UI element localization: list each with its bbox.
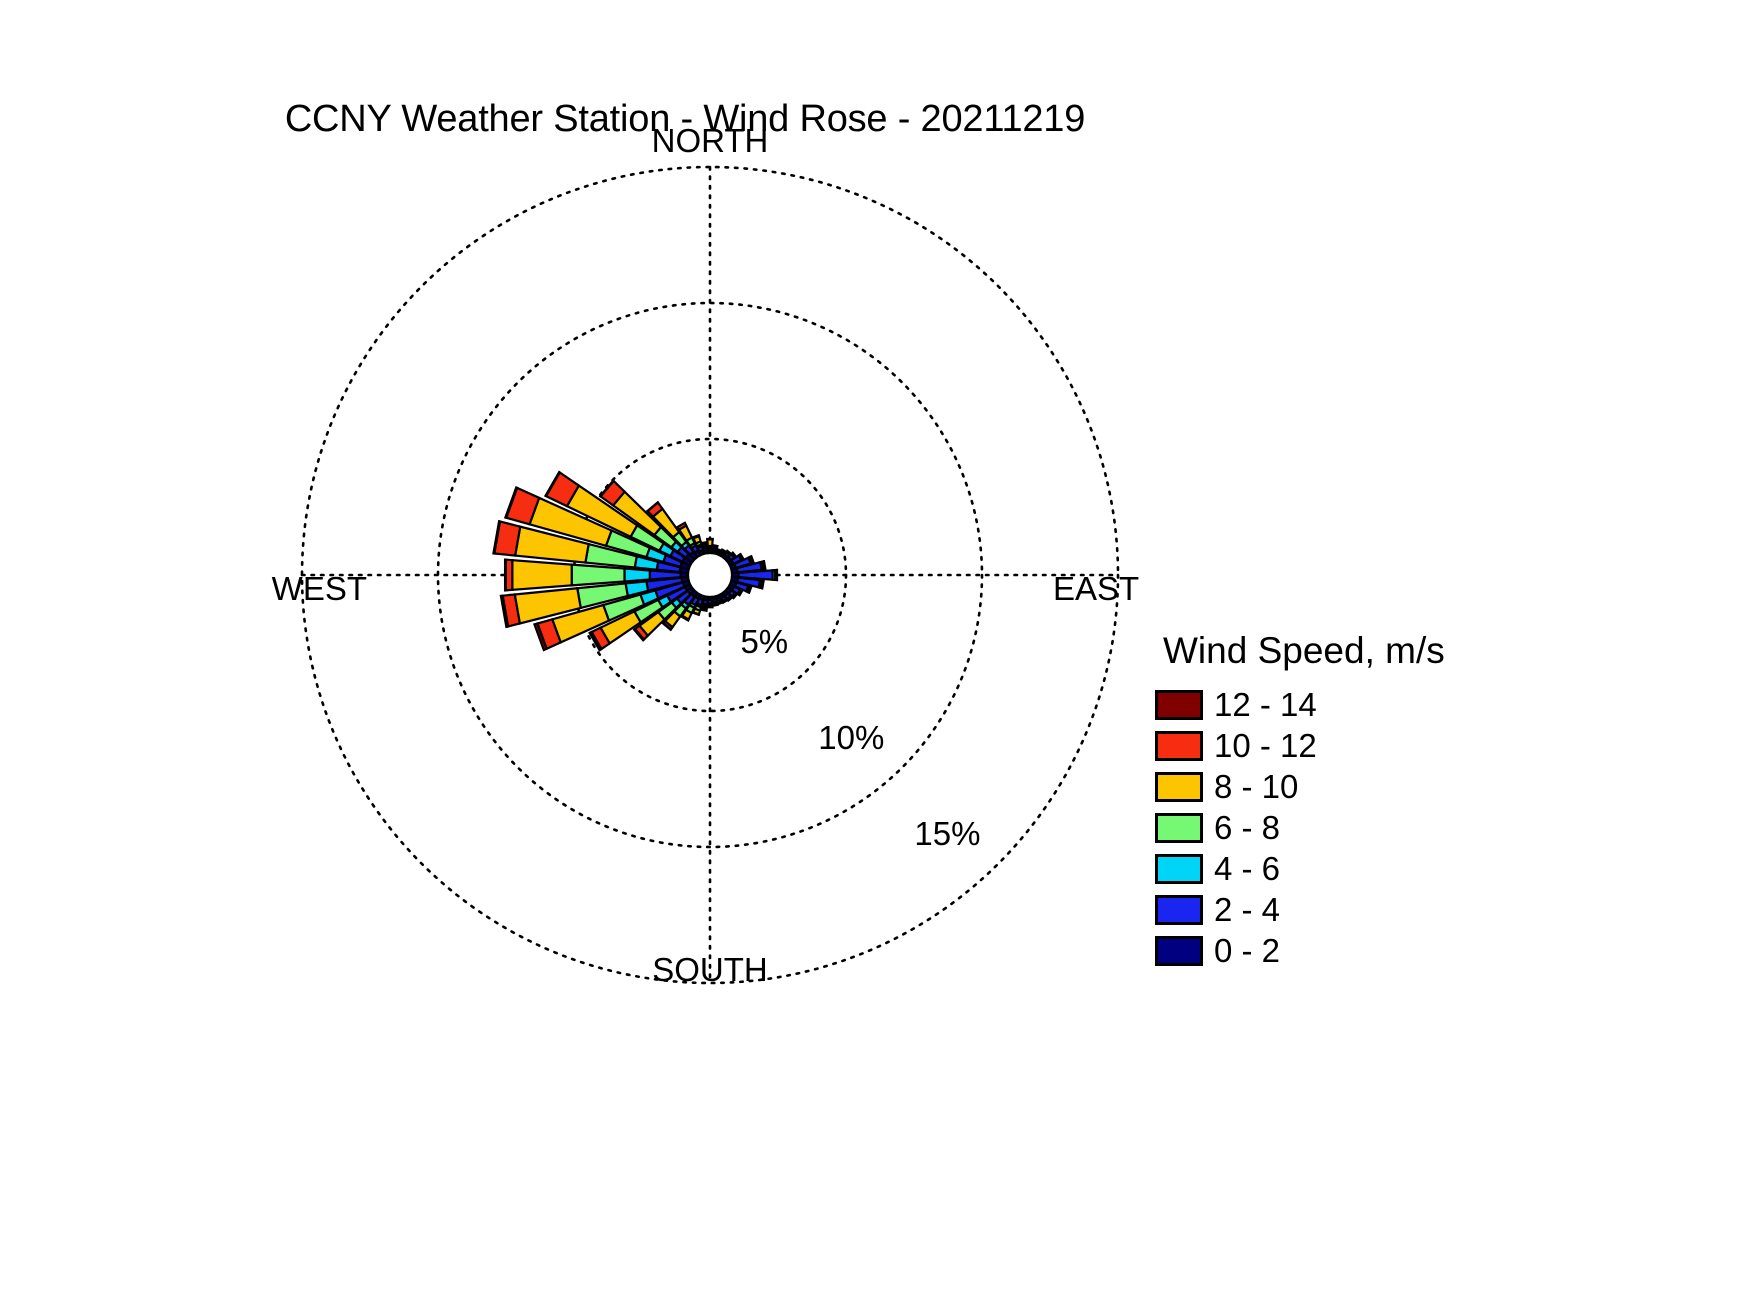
compass-label-east: EAST xyxy=(1053,570,1139,608)
legend-label: 8 - 10 xyxy=(1214,768,1298,806)
wind-rose-sector xyxy=(701,610,706,611)
legend-item[interactable]: 8 - 10 xyxy=(1155,768,1585,805)
wind-rose-petals xyxy=(493,472,777,650)
legend-label: 6 - 8 xyxy=(1214,809,1280,847)
wind-rose-sector xyxy=(505,560,506,591)
center-hub xyxy=(688,553,732,597)
radial-tick-label-15: 15% xyxy=(914,815,980,853)
wind-rose-sector xyxy=(624,569,649,582)
legend-item[interactable]: 0 - 2 xyxy=(1155,932,1585,969)
legend-label: 10 - 12 xyxy=(1214,727,1317,765)
wind-rose-sector xyxy=(713,545,717,546)
radial-tick-label-10: 10% xyxy=(818,719,884,757)
wind-rose-sector xyxy=(713,604,718,606)
wind-rose-sector xyxy=(512,560,571,590)
wind-rose-figure: CCNY Weather Station - Wind Rose - 20211… xyxy=(0,0,1750,1313)
legend-item[interactable]: 4 - 6 xyxy=(1155,850,1585,887)
legend-label: 0 - 2 xyxy=(1214,932,1280,970)
legend-item[interactable]: 10 - 12 xyxy=(1155,727,1585,764)
legend-swatch-2-4 xyxy=(1155,895,1203,925)
wind-rose-sector xyxy=(717,549,721,551)
legend-swatch-6-8 xyxy=(1155,813,1203,843)
legend-swatch-10-12 xyxy=(1155,731,1203,761)
legend-item[interactable]: 6 - 8 xyxy=(1155,809,1585,846)
legend-swatch-0-2 xyxy=(1155,936,1203,966)
radial-tick-label-5: 5% xyxy=(740,623,788,661)
legend-item[interactable]: 12 - 14 xyxy=(1155,686,1585,723)
wind-rose-sector xyxy=(702,542,707,543)
legend-item[interactable]: 2 - 4 xyxy=(1155,891,1585,928)
compass-label-west: WEST xyxy=(272,570,367,608)
wind-rose-sector xyxy=(764,561,766,569)
legend-label: 4 - 6 xyxy=(1214,850,1280,888)
wind-rose-sector xyxy=(718,602,722,604)
compass-label-south: SOUTH xyxy=(652,951,768,989)
wind-rose-sector xyxy=(708,606,713,607)
wind-rose-sector xyxy=(572,565,625,586)
legend: Wind Speed, m/s 12 - 1410 - 128 - 106 - … xyxy=(1155,630,1585,973)
calm-center xyxy=(688,553,732,597)
legend-label: 12 - 14 xyxy=(1214,686,1317,724)
wind-rose-sector xyxy=(762,580,764,588)
legend-label: 2 - 4 xyxy=(1214,891,1280,929)
legend-title: Wind Speed, m/s xyxy=(1163,630,1585,672)
legend-swatch-12-14 xyxy=(1155,690,1203,720)
legend-swatch-4-6 xyxy=(1155,854,1203,884)
legend-swatch-8-10 xyxy=(1155,772,1203,802)
legend-items: 12 - 1410 - 128 - 106 - 84 - 62 - 40 - 2 xyxy=(1155,686,1585,969)
compass-label-north: NORTH xyxy=(652,122,769,160)
